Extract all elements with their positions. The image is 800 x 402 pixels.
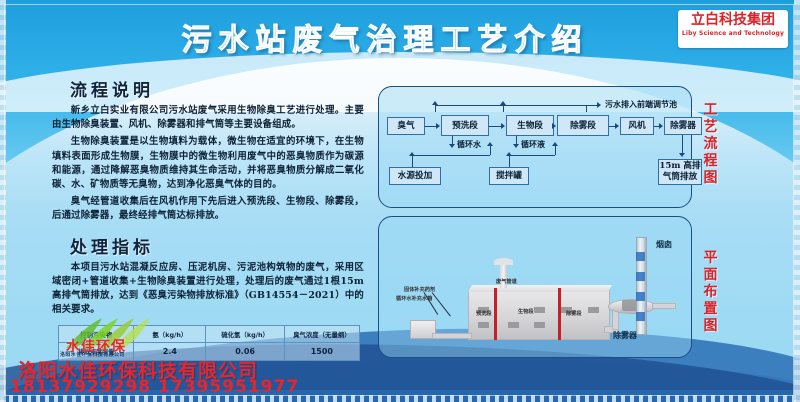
table-header-odor: 臭气浓度（无量纲） (284, 326, 359, 343)
flow-edge-water-source-up (412, 155, 413, 167)
flow-arrow-fan-demister (659, 123, 663, 129)
company-logo: 立白科技集团 Liby Science and Technology (678, 10, 788, 48)
flow-label-discharge: 污水排入前端调节池 (605, 99, 677, 110)
flow-arrow-demister-stack (679, 153, 685, 157)
flow-edge-return-top (435, 105, 586, 106)
outlet-duct-riser (612, 310, 619, 330)
flow-arrow-bio-demist (552, 123, 556, 129)
logo-chinese-text: 立白科技集团 (681, 12, 785, 29)
flow-edge-return-bio-up (503, 105, 504, 112)
section-title-indicators: 处理指标 (70, 233, 364, 258)
flow-arrow-demist-fan (615, 123, 619, 129)
red-divider-pipe-1 (494, 288, 497, 340)
poster-root: 污水站废气治理工艺介绍 立白科技集团 Liby Science and Tech… (0, 0, 800, 402)
layout-label-exhaust-duct: 废气管道 (496, 278, 517, 285)
flow-arrow-water-source (409, 152, 415, 156)
process-flow-panel: 臭气 预洗段 生物段 除雾段 风机 除雾器 15m 高排 气筒排放 水源投加 搅… (378, 86, 692, 208)
outlet-duct-2 (652, 303, 676, 309)
flow-arrow-prewash-down (449, 144, 455, 148)
flow-node-stack-line2: 气筒排放 (663, 172, 697, 183)
flow-edge-stir-tank-up (509, 155, 510, 167)
poster-header: 污水站废气治理工艺介绍 立白科技集团 Liby Science and Tech… (0, 0, 800, 62)
flow-edge-circ-water-up (490, 145, 491, 155)
flow-label-circ-water: 循环水 (457, 139, 481, 150)
flow-edge-circ-water-h (412, 155, 490, 156)
flow-edge-return-demist-up (586, 105, 587, 112)
red-divider-pipe-2 (558, 288, 561, 340)
flow-node-prewash: 预洗段 (441, 115, 489, 136)
flow-arrow-bio-down (513, 144, 519, 148)
logo-english-text: Liby Science and Technology (681, 29, 785, 38)
watermark-phone: 18137929298 17395951977 (10, 377, 299, 397)
chimney-band (636, 272, 645, 281)
page-title: 污水站废气治理工艺介绍 (120, 15, 650, 59)
layout-panel-vertical-label: 平面布置图 (700, 250, 722, 335)
flow-panel-vertical-label: 工艺流程图 (700, 102, 722, 187)
section-title-process: 流程说明 (70, 76, 364, 101)
building-window (534, 322, 545, 328)
flow-node-odor: 臭气 (387, 117, 425, 135)
treatment-building-roof (468, 285, 612, 292)
indicators-paragraph-1: 本项目污水站混凝反应房、压泥机房、污泥池构筑物的废气，采用区域密闭+管道收集+生… (52, 261, 364, 318)
process-paragraph-1: 新乡立白实业有限公司污水站废气采用生物除臭工艺进行处理。主要由生物除臭装置、风机… (52, 104, 364, 132)
building-window (588, 307, 599, 313)
flow-node-stack-line1: 15m 高排 (659, 161, 700, 172)
flow-node-fan: 风机 (620, 117, 654, 135)
layout-label-demister: 除雾器 (613, 330, 637, 341)
layout-label-prewash: 预洗段 (476, 310, 492, 317)
table-cell-odor: 1500 (284, 343, 359, 361)
table-header-h2s: 硫化氢（kg/h） (206, 326, 284, 343)
flow-arrow-odor-prewash (436, 123, 440, 129)
inlet-duct (432, 333, 472, 339)
flow-arrow-return-bio (500, 101, 506, 105)
building-window (478, 322, 489, 328)
chimney-band (636, 312, 645, 321)
process-paragraph-3: 臭气经管道收集后在风机作用下先后进入预洗段、生物段、除雾段，后通过除雾器，最终经… (52, 195, 364, 223)
flow-arrow-circ-liquid-up (552, 142, 558, 146)
flow-edge-return-prewash-up (435, 105, 436, 112)
left-text-panel: 流程说明 新乡立白实业有限公司污水站废气采用生物除臭工艺进行处理。主要由生物除臭… (52, 76, 364, 366)
flow-label-circ-liquid: 循环液 (521, 139, 545, 150)
flow-arrow-prewash-bio (501, 123, 505, 129)
flow-edge-circ-liquid-h (509, 155, 555, 156)
flow-edge-circ-liquid-up (555, 145, 556, 155)
layout-label-demist: 除雾段 (566, 310, 582, 317)
process-paragraph-2: 生物除臭装置是以生物填料为载体，微生物在适宜的环境下，在生物填料表面形成生物膜，… (52, 135, 364, 192)
flow-edge-demister-stack (682, 135, 683, 154)
building-window (508, 322, 519, 328)
flow-arrow-circ-water-up (487, 142, 493, 146)
chimney-band (636, 292, 645, 301)
flow-node-demist-stage: 除雾段 (557, 115, 609, 136)
flow-node-water-source: 水源投加 (389, 167, 441, 185)
flow-arrow-return-prewash (432, 101, 438, 105)
flow-arrow-return-discharge (597, 102, 601, 108)
layout-label-chimney: 烟囱 (656, 239, 672, 250)
chimney-band (636, 252, 645, 261)
layout-label-bio: 生物段 (518, 308, 534, 315)
flow-arrow-stir-tank (506, 152, 512, 156)
flow-node-stack: 15m 高排 气筒排放 (658, 159, 702, 185)
exhaust-duct-cap (494, 258, 513, 265)
flow-node-stir-tank: 搅拌罐 (489, 167, 529, 185)
flow-node-demister: 除雾器 (664, 117, 702, 135)
building-window (534, 307, 545, 313)
table-header-ammonia: 氨（kg/h） (134, 326, 206, 343)
flow-node-bio: 生物段 (506, 115, 554, 136)
